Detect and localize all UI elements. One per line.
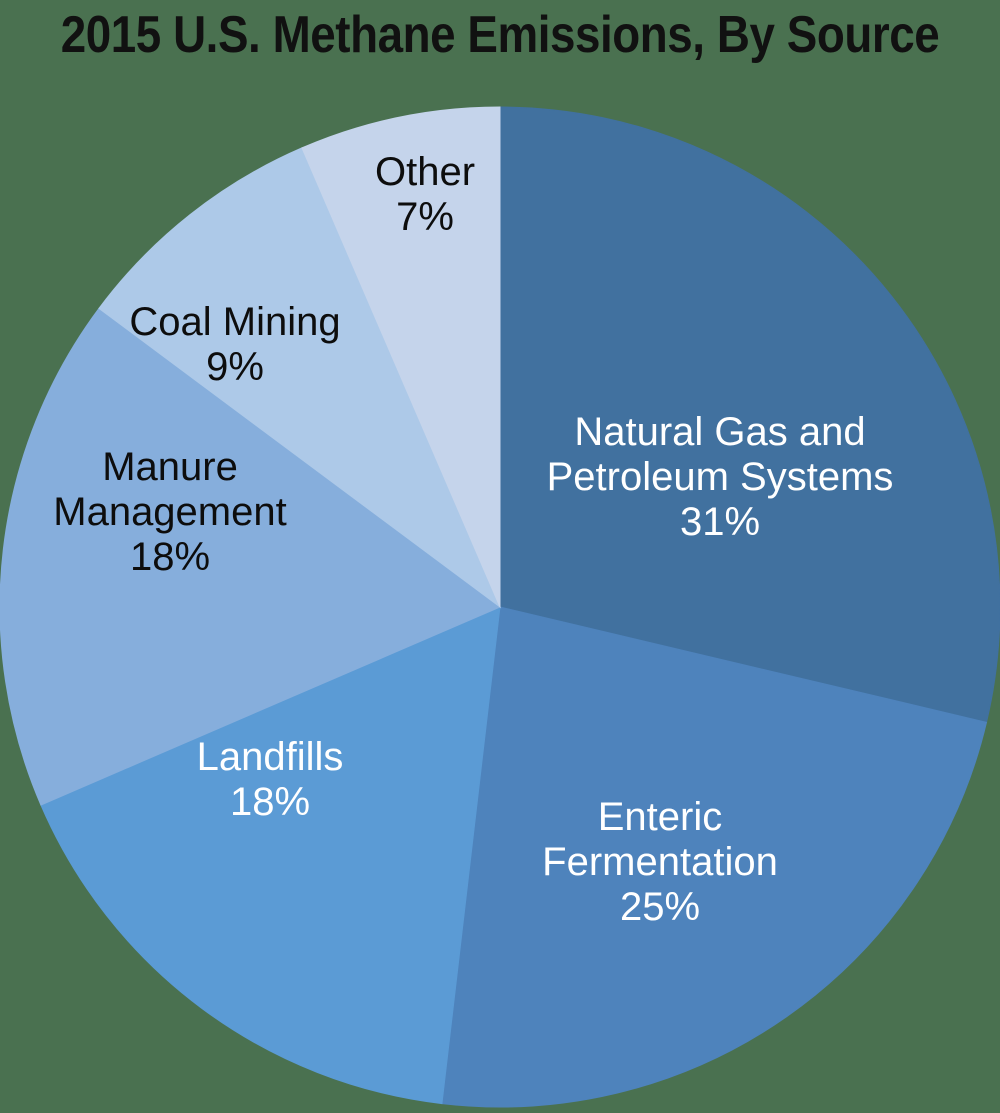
pie-slice-group [0,107,1000,1107]
pie-svg [0,105,1000,1113]
page-title: 2015 U.S. Methane Emissions, By Source [60,8,940,63]
pie-chart-area: Natural Gas and Petroleum Systems 31% En… [0,105,1000,1113]
pie-chart-figure: 2015 U.S. Methane Emissions, By Source N… [0,0,1000,1113]
